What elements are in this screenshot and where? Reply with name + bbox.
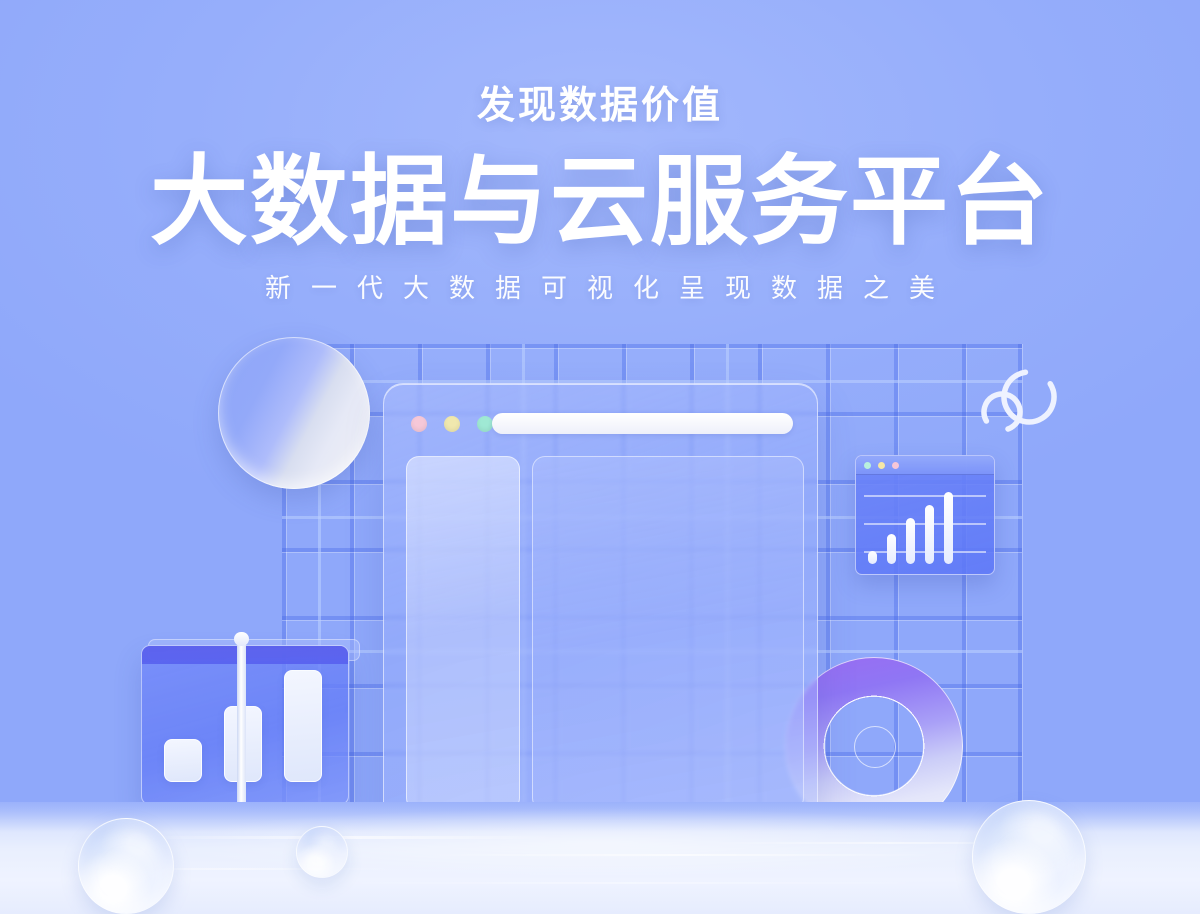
- address-bar-input[interactable]: [492, 413, 793, 434]
- bar-item: [868, 551, 877, 564]
- content-panel[interactable]: [532, 456, 804, 811]
- sidebar-panel[interactable]: [406, 456, 520, 811]
- close-dot-icon[interactable]: [892, 462, 899, 469]
- bar-series: [164, 670, 330, 782]
- bar-item: [284, 670, 322, 782]
- chart-window-titlebar: [856, 456, 994, 475]
- glass-disc: [218, 337, 370, 489]
- eyebrow-text: 发现数据价值: [0, 86, 1200, 128]
- bar-item: [906, 518, 915, 564]
- bar-item: [164, 739, 202, 782]
- hero-text-block: 发现数据价值 大数据与云服务平台 新一代大数据可视化呈现数据之美: [0, 86, 1200, 305]
- glass-sphere: [78, 818, 174, 914]
- close-dot-icon[interactable]: [411, 416, 427, 432]
- maximize-dot-icon[interactable]: [864, 462, 871, 469]
- banner-stage: 发现数据价值 大数据与云服务平台 新一代大数据可视化呈现数据之美: [0, 0, 1200, 914]
- page-title: 大数据与云服务平台: [0, 150, 1200, 254]
- glass-sphere: [296, 826, 348, 878]
- chart-window-mock[interactable]: [855, 455, 995, 575]
- cloud-icon: [975, 364, 1065, 442]
- stand-knob: [234, 632, 249, 646]
- traffic-lights: [411, 416, 493, 432]
- minimize-dot-icon[interactable]: [444, 416, 460, 432]
- chart-window-body: [856, 475, 994, 574]
- chart-window-traffic-lights: [864, 462, 899, 469]
- maximize-dot-icon[interactable]: [477, 416, 493, 432]
- bar-item: [887, 534, 896, 564]
- bar-item: [925, 505, 934, 564]
- glass-sphere: [972, 800, 1086, 914]
- browser-window-mock[interactable]: [383, 383, 818, 833]
- bar-item: [944, 492, 953, 564]
- minimize-dot-icon[interactable]: [878, 462, 885, 469]
- bar-series: [868, 484, 984, 564]
- subtitle-text: 新一代大数据可视化呈现数据之美: [0, 268, 1200, 305]
